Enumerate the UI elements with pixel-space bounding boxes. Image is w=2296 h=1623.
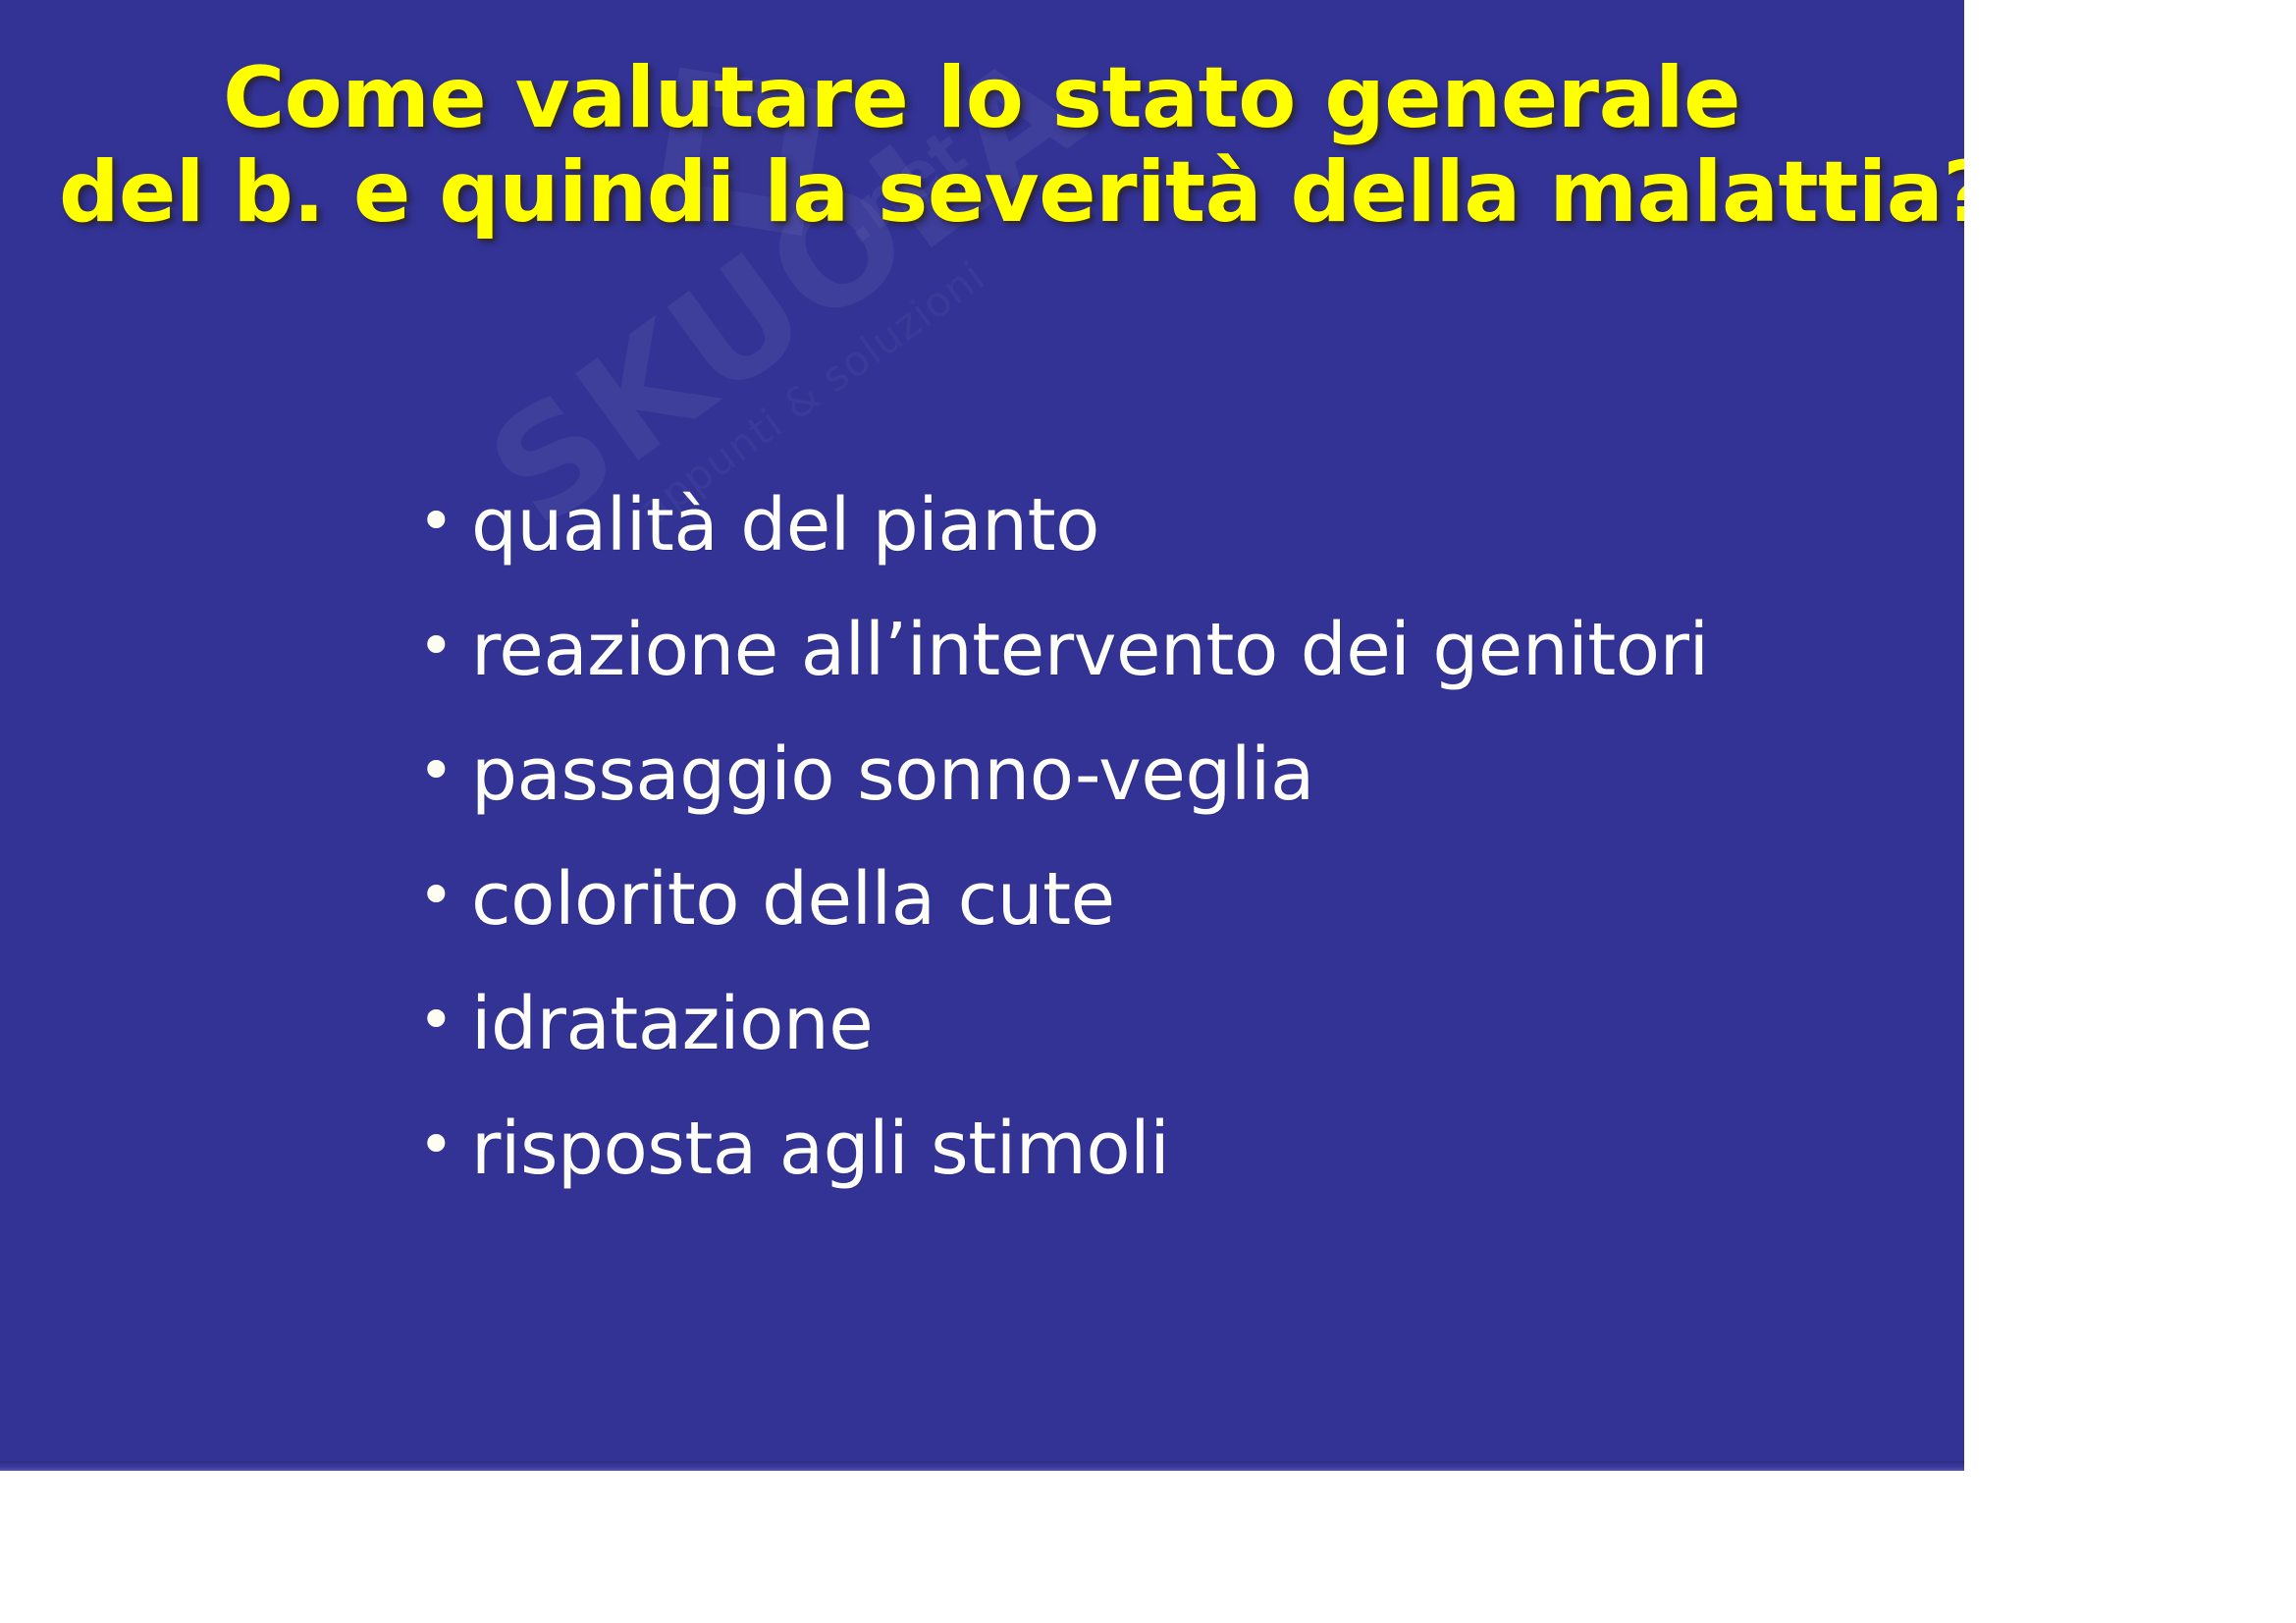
bullet-label: reazione all’intervento dei genitori <box>471 614 1912 686</box>
bullet-label: idratazione <box>471 988 1912 1060</box>
list-item: • qualità del pianto <box>400 489 1912 614</box>
bullet-label: qualità del pianto <box>471 489 1912 562</box>
slide-title-line-1: Come valutare lo stato generale <box>59 51 1904 145</box>
slide-bottom-edge <box>0 1461 1964 1471</box>
bullet-dot-icon: • <box>400 616 471 676</box>
list-item: • reazione all’intervento dei genitori <box>400 614 1912 738</box>
list-item: • risposta agli stimoli <box>400 1112 1912 1237</box>
slide-title: Come valutare lo stato generale del b. e… <box>59 51 1904 241</box>
bullet-dot-icon: • <box>400 990 471 1051</box>
bullet-dot-icon: • <box>400 740 471 801</box>
bullet-dot-icon: • <box>400 1114 471 1175</box>
slide-page: SKUOLA .net appunti & soluzioni Come val… <box>0 0 2296 1623</box>
slide-canvas: SKUOLA .net appunti & soluzioni Come val… <box>0 0 1964 1471</box>
bullet-dot-icon: • <box>400 491 471 552</box>
bullet-list: • qualità del pianto • reazione all’inte… <box>400 489 1912 1237</box>
list-item: • idratazione <box>400 988 1912 1112</box>
bullet-label: risposta agli stimoli <box>471 1112 1912 1185</box>
bullet-label: passaggio sonno-veglia <box>471 738 1912 811</box>
slide-title-line-2: del b. e quindi la severità della malatt… <box>59 145 1904 240</box>
bullet-label: colorito della cute <box>471 863 1912 936</box>
list-item: • passaggio sonno-veglia <box>400 738 1912 863</box>
bullet-dot-icon: • <box>400 865 471 926</box>
list-item: • colorito della cute <box>400 863 1912 988</box>
